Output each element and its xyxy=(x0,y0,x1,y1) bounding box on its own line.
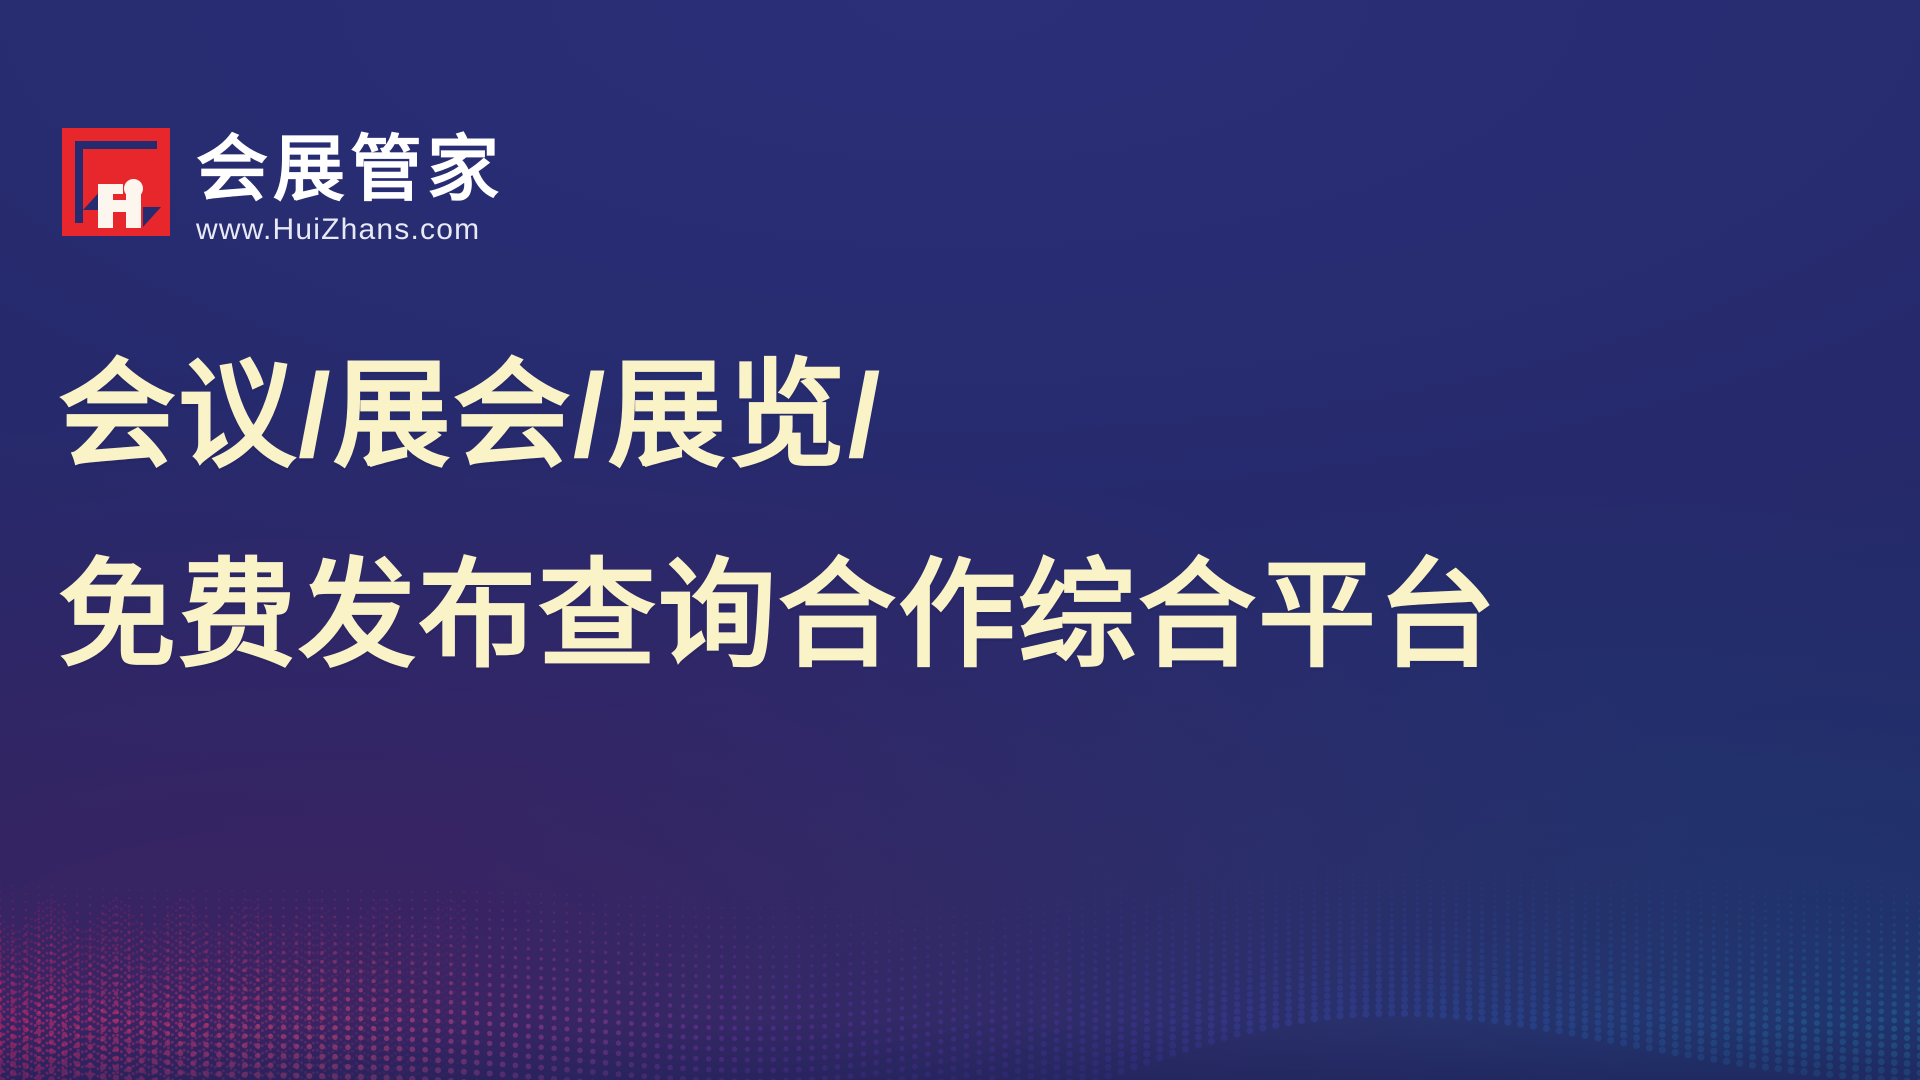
brand-logo-lockup[interactable]: 会展管家 www.HuiZhans.com xyxy=(62,128,504,248)
promo-banner: 会展管家 www.HuiZhans.com 会议/展会/展览/ 免费发布查询合作… xyxy=(0,0,1920,1080)
logo-notch-right xyxy=(143,207,161,227)
headline-line-1: 会议/展会/展览/ xyxy=(58,352,1558,480)
headline-line-2: 免费发布查询合作综合平台 xyxy=(58,552,1558,680)
brand-text-block: 会展管家 www.HuiZhans.com xyxy=(196,128,504,248)
brand-name-cn: 会展管家 xyxy=(196,130,504,210)
huizhans-hi-monogram-icon xyxy=(62,128,170,236)
brand-website-url[interactable]: www.HuiZhans.com xyxy=(196,212,504,248)
logo-letter-i-dot xyxy=(124,179,143,198)
headline-block: 会议/展会/展览/ 免费发布查询合作综合平台 xyxy=(58,352,1558,680)
logo-letter-h-cap xyxy=(98,184,123,194)
